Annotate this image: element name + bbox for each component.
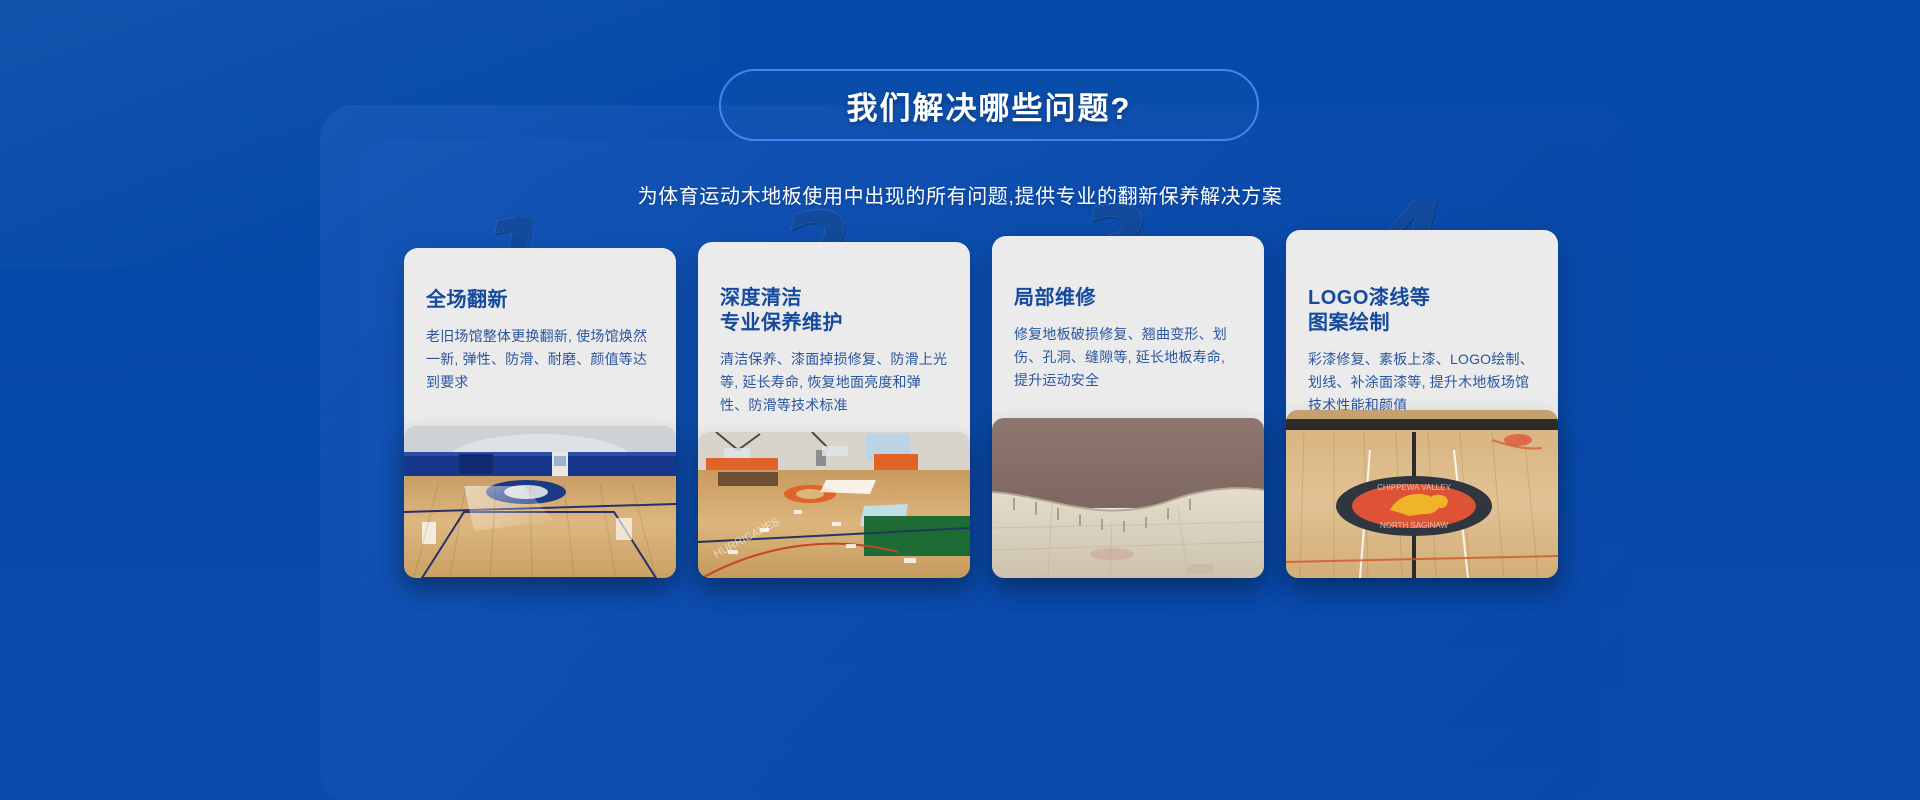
card-title: 局部维修 [1014, 286, 1242, 311]
card-photo: CHIPPEWA VALLEY NORTH SAGINAW [1286, 410, 1558, 578]
card-body: 深度清洁 专业保养维护 清洁保养、漆面掉损修复、防滑上光等, 延长寿命, 恢复地… [698, 242, 970, 427]
section-subtitle: 为体育运动木地板使用中出现的所有问题,提供专业的翻新保养解决方案 [0, 180, 1920, 209]
card-item[interactable]: 1 1 全场翻新 老旧场馆整体更换翻新, 使场馆焕然一新, 弹性、防滑、耐磨、颜… [404, 230, 676, 710]
card-body: LOGO漆线等 图案绘制 彩漆修复、素板上漆、LOGO绘制、划线、补涂面漆等, … [1286, 230, 1558, 427]
card-description: 修复地板破损修复、翘曲变形、划伤、孔洞、缝隙等, 延长地板寿命, 提升运动安全 [1014, 323, 1242, 392]
page-title: 我们解决哪些问题? [847, 83, 1132, 128]
card-body: 局部维修 修复地板破损修复、翘曲变形、划伤、孔洞、缝隙等, 延长地板寿命, 提升… [992, 236, 1264, 402]
svg-text:CHIPPEWA VALLEY: CHIPPEWA VALLEY [1377, 483, 1451, 492]
gym-floor-blue-walls-image [404, 426, 676, 578]
card-title: 全场翻新 [426, 288, 654, 313]
card-description: 彩漆修复、素板上漆、LOGO绘制、划线、补涂面漆等, 提升木地板场馆技术性能和颜… [1308, 348, 1536, 417]
card-item[interactable]: 3 3 局部维修 修复地板破损修复、翘曲变形、划伤、孔洞、缝隙等, 延长地板寿命… [992, 230, 1264, 710]
card-item[interactable]: 4 4 LOGO漆线等 图案绘制 彩漆修复、素板上漆、LOGO绘制、划线、补涂面… [1286, 230, 1558, 710]
ordinal-glyph-dark: 1 [480, 206, 548, 250]
card-title: 深度清洁 专业保养维护 [720, 286, 948, 336]
card-description: 老旧场馆整体更换翻新, 使场馆焕然一新, 弹性、防滑、耐磨、颜值等达到要求 [426, 325, 654, 394]
cards-row: 1 1 全场翻新 老旧场馆整体更换翻新, 使场馆焕然一新, 弹性、防滑、耐磨、颜… [404, 230, 1556, 710]
card-photo [404, 426, 676, 578]
card-photo: HURRICANES [698, 432, 970, 578]
page-root: 我们解决哪些问题? 为体育运动木地板使用中出现的所有问题,提供专业的翻新保养解决… [0, 0, 1920, 800]
card-title: LOGO漆线等 图案绘制 [1308, 286, 1536, 336]
warped-floor-image [992, 418, 1264, 578]
section-title-pill: 我们解决哪些问题? [719, 69, 1259, 141]
card-body: 全场翻新 老旧场馆整体更换翻新, 使场馆焕然一新, 弹性、防滑、耐磨、颜值等达到… [404, 248, 676, 404]
gym-court-orange-green-image: HURRICANES [698, 432, 970, 578]
card-photo [992, 418, 1264, 578]
card-item[interactable]: 2 2 深度清洁 专业保养维护 清洁保养、漆面掉损修复、防滑上光等, 延长寿命,… [698, 230, 970, 710]
ordinal-glyph-dark: 2 [780, 200, 848, 248]
card-description: 清洁保养、漆面掉损修复、防滑上光等, 延长寿命, 恢复地面亮度和弹性、防滑等技术… [720, 348, 948, 417]
svg-text:NORTH SAGINAW: NORTH SAGINAW [1380, 521, 1448, 530]
court-logo-image: CHIPPEWA VALLEY NORTH SAGINAW [1286, 410, 1558, 578]
